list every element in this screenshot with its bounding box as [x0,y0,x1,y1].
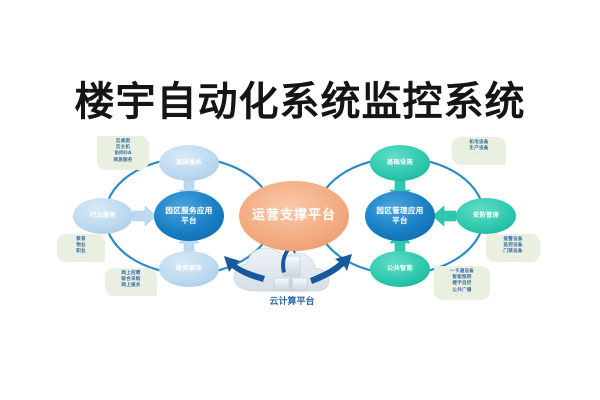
note-ellipsis: · · · [456,152,502,158]
note-bottom-right: 一卡通设备 智能照明 楼宇自控 公共广播 · · · [434,266,490,300]
cloud-label: 云计算平台 [232,294,352,307]
node-left-top[interactable] [159,145,219,181]
node-left-side[interactable] [73,198,133,234]
note-top-right: 机电设备 生产设备 · · · [452,137,506,165]
node-right-center[interactable] [365,191,435,241]
diagram-canvas: 楼宇自动化系统监控系统 [0,0,600,400]
hub-node-operations-platform[interactable] [239,181,349,251]
note-mid-right: 报警设备 监控设备 门禁设备 · · · [486,234,540,262]
note-ellipsis: · · · [61,256,101,262]
node-right-side[interactable] [456,198,516,234]
note-ellipsis: · · · [109,290,153,296]
note-ellipsis: · · · [490,256,536,262]
architecture-diagram-svg [0,0,600,400]
note-bottom-left: 网上招聘 联合采购 网上报关 · · · [105,268,157,296]
node-left-center[interactable] [154,191,224,241]
left-arrow-side-right [133,206,156,226]
note-top-left: 云桌面 云主机 协同OA 商旅服务 · · · [97,136,149,170]
note-ellipsis: · · · [101,164,145,170]
node-right-top[interactable] [370,145,430,181]
node-right-bottom[interactable] [370,251,430,287]
note-mid-left: 教育 物业 职业 · · · [57,234,105,262]
right-arrow-side-left [433,206,456,226]
note-ellipsis: · · · [438,294,486,300]
node-left-bottom[interactable] [159,251,219,287]
